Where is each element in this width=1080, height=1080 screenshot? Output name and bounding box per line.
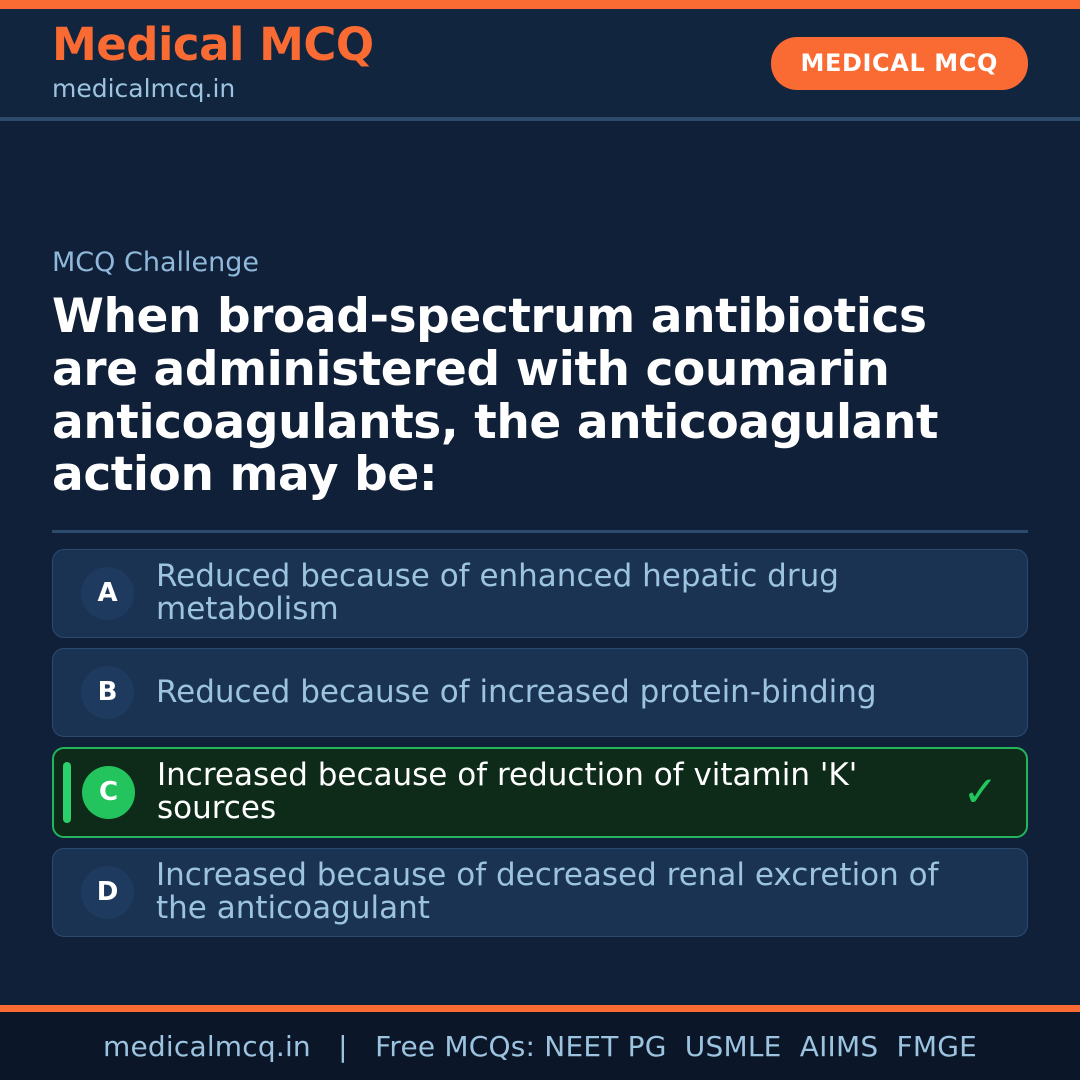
header-badge[interactable]: MEDICAL MCQ — [771, 37, 1028, 90]
option-text: Increased because of decreased renal exc… — [156, 859, 946, 926]
header: Medical MCQ medicalmcq.in MEDICAL MCQ — [0, 9, 1080, 121]
check-icon: ✓ — [963, 771, 998, 813]
footer-text: medicalmcq.in | Free MCQs: NEET PG USMLE… — [103, 1030, 977, 1063]
option-letter-badge: C — [82, 766, 135, 819]
section-divider — [52, 530, 1028, 533]
option-letter-badge: A — [81, 567, 134, 620]
mcq-card: Medical MCQ medicalmcq.in MEDICAL MCQ MC… — [0, 0, 1080, 1080]
question-text: When broad-spectrum antibiotics are admi… — [52, 291, 1028, 502]
options-list: A Reduced because of enhanced hepatic dr… — [52, 549, 1028, 937]
eyebrow-label: MCQ Challenge — [52, 121, 1028, 279]
option-letter-badge: B — [81, 666, 134, 719]
brand-title: Medical MCQ — [52, 22, 374, 67]
option-letter-badge: D — [81, 866, 134, 919]
option-row-b[interactable]: B Reduced because of increased protein-b… — [52, 648, 1028, 737]
footer-accent-bar — [0, 1005, 1080, 1012]
option-row-c[interactable]: C Increased because of reduction of vita… — [52, 747, 1028, 838]
brand-block: Medical MCQ medicalmcq.in — [52, 22, 374, 104]
option-text: Reduced because of increased protein-bin… — [156, 676, 877, 709]
option-row-d[interactable]: D Increased because of decreased renal e… — [52, 848, 1028, 937]
brand-subtitle: medicalmcq.in — [52, 73, 374, 104]
option-text: Reduced because of enhanced hepatic drug… — [156, 560, 946, 627]
correct-accent-bar — [63, 762, 71, 823]
footer: medicalmcq.in | Free MCQs: NEET PG USMLE… — [0, 1012, 1080, 1080]
top-accent-bar — [0, 0, 1080, 9]
option-text: Increased because of reduction of vitami… — [157, 759, 947, 826]
main-content: MCQ Challenge When broad-spectrum antibi… — [0, 121, 1080, 1005]
option-row-a[interactable]: A Reduced because of enhanced hepatic dr… — [52, 549, 1028, 638]
